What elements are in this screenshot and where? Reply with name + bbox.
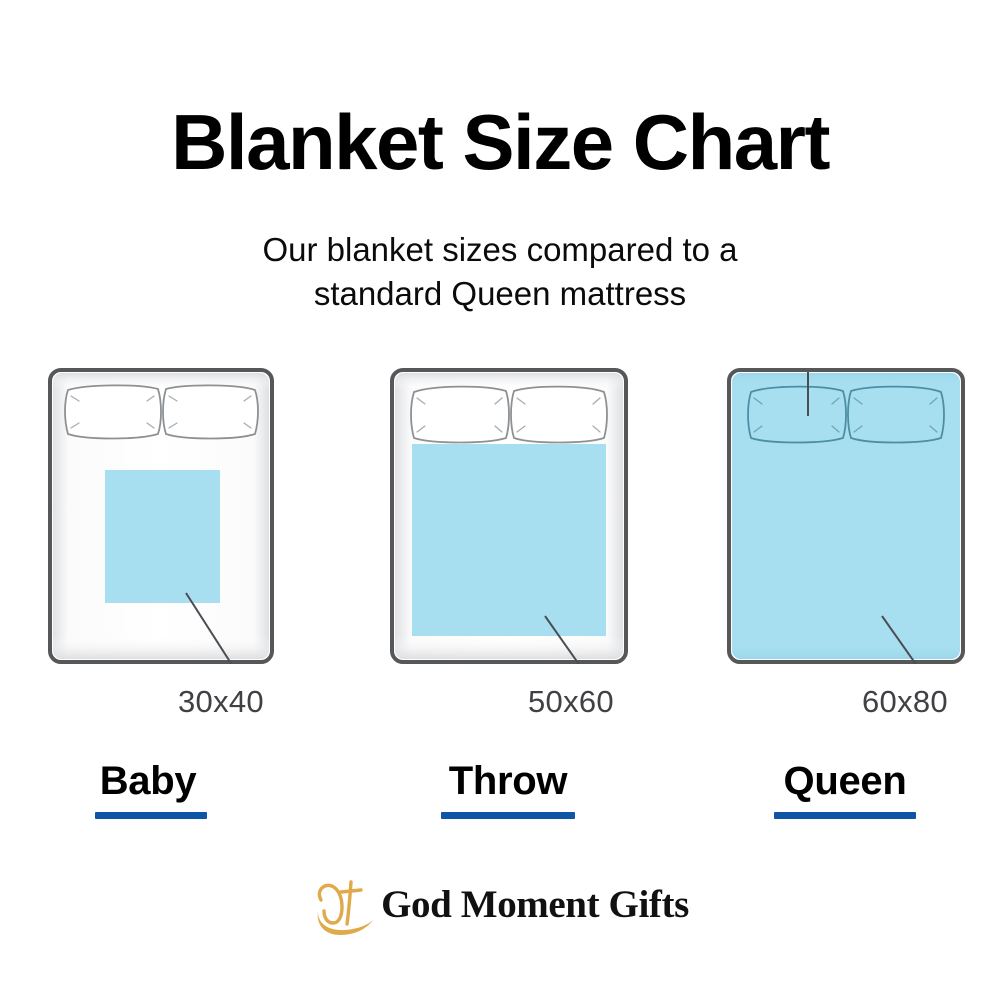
category-underline-throw xyxy=(441,812,575,819)
pillow-left xyxy=(65,385,161,438)
bed-diagram-throw xyxy=(390,368,628,664)
size-label-queen: 60x80 xyxy=(862,684,948,720)
bed-illustration-queen xyxy=(727,368,965,664)
category-underline-queen xyxy=(774,812,916,819)
pillow-right xyxy=(848,387,944,443)
subtitle-line-2: standard Queen mattress xyxy=(0,272,1000,316)
brand-name: God Moment Gifts xyxy=(381,885,689,924)
bed-illustration-throw xyxy=(390,368,628,664)
category-underline-baby xyxy=(95,812,207,819)
size-label-baby: 30x40 xyxy=(178,684,264,720)
bed-diagram-baby xyxy=(48,368,274,664)
page-title: Blanket Size Chart xyxy=(0,103,1000,181)
category-label-throw: Throw xyxy=(390,760,626,803)
blanket-overlay-baby xyxy=(105,470,220,603)
pillow-left xyxy=(411,387,509,443)
cross-heart-flourish-icon xyxy=(311,876,377,938)
page-subtitle: Our blanket sizes compared to a standard… xyxy=(0,228,1000,316)
category-throw: Throw xyxy=(390,760,626,819)
blanket-size-chart-infographic: Blanket Size Chart Our blanket sizes com… xyxy=(0,0,1000,1000)
pillow-right xyxy=(163,385,258,438)
bed-illustration-baby xyxy=(48,368,274,664)
blanket-overlay-throw xyxy=(412,444,606,636)
bed-diagram-queen xyxy=(727,368,965,664)
category-queen: Queen xyxy=(727,760,963,819)
pillow-right xyxy=(511,387,607,443)
category-label-baby: Baby xyxy=(48,760,248,803)
brand-logo: God Moment Gifts xyxy=(0,876,1000,938)
category-label-queen: Queen xyxy=(727,760,963,803)
size-label-throw: 50x60 xyxy=(528,684,614,720)
category-baby: Baby xyxy=(48,760,248,819)
pillow-left xyxy=(748,387,846,443)
subtitle-line-1: Our blanket sizes compared to a xyxy=(0,228,1000,272)
